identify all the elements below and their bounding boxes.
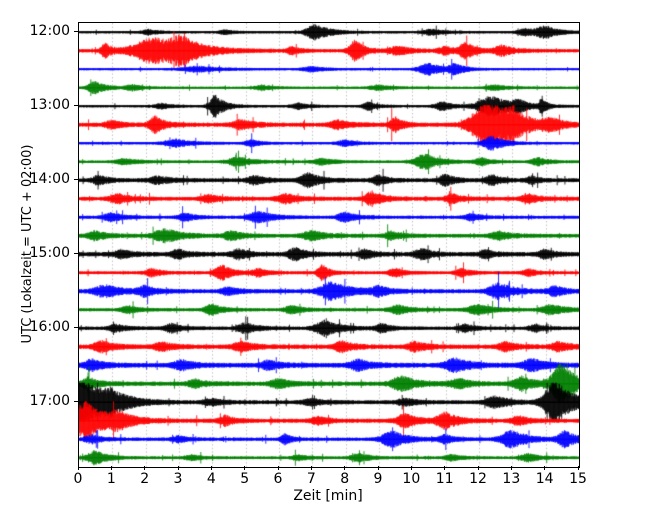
x-tick-mark (111, 466, 112, 470)
x-tick-label: 15 (558, 472, 598, 486)
y-tick-mark (74, 401, 78, 402)
x-tick-mark (344, 466, 345, 470)
y-tick-mark (74, 253, 78, 254)
y-tick-label: 13:00 (8, 98, 70, 112)
y-tick-label: 15:00 (8, 246, 70, 260)
x-axis-label: Zeit [min] (78, 488, 578, 504)
y-tick-mark (74, 105, 78, 106)
x-tick-mark (278, 466, 279, 470)
x-tick-mark (311, 466, 312, 470)
x-tick-mark (444, 466, 445, 470)
x-tick-mark (378, 466, 379, 470)
x-tick-mark (211, 466, 212, 470)
y-tick-mark (74, 327, 78, 328)
y-tick-label: 17:00 (8, 394, 70, 408)
x-tick-mark (244, 466, 245, 470)
x-tick-mark (411, 466, 412, 470)
y-tick-label: 12:00 (8, 24, 70, 38)
x-tick-mark (544, 466, 545, 470)
y-tick-mark (74, 179, 78, 180)
x-tick-mark (478, 466, 479, 470)
x-tick-mark (178, 466, 179, 470)
x-tick-mark (144, 466, 145, 470)
seismogram-figure: UTC (Lokalzeit = UTC + 02:00) 12:0013:00… (0, 0, 650, 520)
x-tick-mark (578, 466, 579, 470)
y-tick-label: 14:00 (8, 172, 70, 186)
y-tick-label: 16:00 (8, 320, 70, 334)
x-tick-mark (78, 466, 79, 470)
x-tick-mark (511, 466, 512, 470)
axis-ticks: 12:0013:0014:0015:0016:0017:000123456789… (0, 0, 650, 520)
y-tick-mark (74, 31, 78, 32)
